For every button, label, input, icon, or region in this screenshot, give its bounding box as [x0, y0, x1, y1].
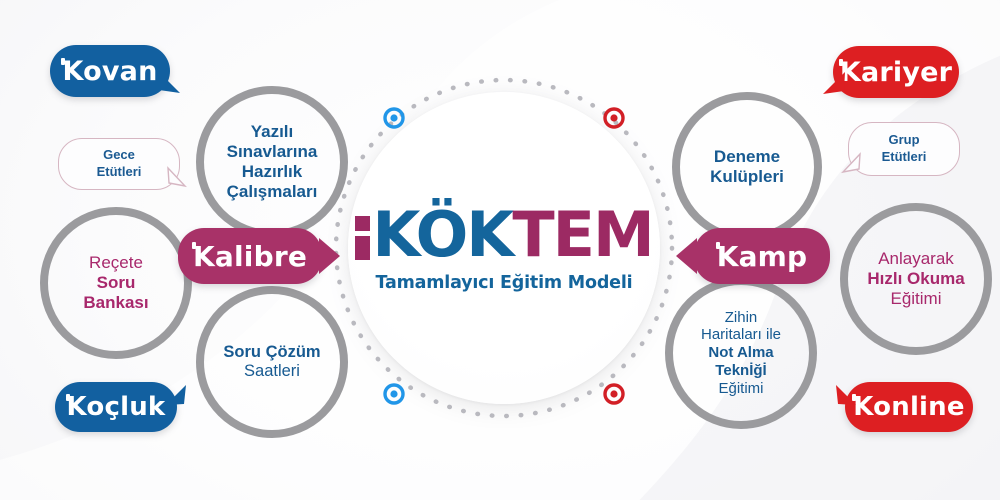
circle-anlayarak-text: Anlayarak Hızlı Okuma Eğitimi [857, 249, 974, 309]
logo-tem-text: TEM [512, 204, 652, 266]
target-bottom-right-icon [602, 382, 626, 406]
line-1: Anlayarak [867, 249, 964, 269]
target-top-left-icon [382, 106, 406, 130]
line-2: Sınavlarına [227, 142, 318, 162]
target-bottom-left-icon [382, 382, 406, 406]
bubble-gece-text: Gece Etütleri [97, 147, 142, 181]
circle-anlayarak-hizli-okuma[interactable]: Anlayarak Hızlı Okuma Eğitimi [840, 203, 992, 355]
badge-kariyer-label: Kariyer [840, 57, 952, 88]
circle-zihin-text: Zihin Haritaları ile Not Alma Teknİğİ Eğ… [691, 309, 791, 397]
logo-kok-text: KÖK [372, 204, 512, 266]
badge-kovan[interactable]: Kovan [50, 45, 170, 97]
circle-soru-cozum-text: Soru Çözüm Saatleri [213, 343, 330, 382]
line-1: Zihin [701, 309, 781, 327]
badge-kamp-label: Kamp [717, 240, 808, 273]
line-2: Saatleri [223, 362, 320, 381]
line-1: Yazılı [227, 122, 318, 142]
line-1: Gece [97, 147, 142, 164]
koktem-logo: KÖK TEM Tamamlayıcı Eğitim Modeli [348, 92, 660, 404]
line-2: Etütleri [97, 164, 142, 181]
line-1: Soru Çözüm [223, 343, 320, 362]
line-4: Çalışmaları [227, 182, 318, 202]
line-2: Haritaları ile [701, 326, 781, 344]
line-2: Etütleri [882, 149, 927, 166]
logo-wordmark: KÖK TEM [355, 204, 652, 266]
badge-kovan-tail [156, 69, 182, 95]
line-4: Teknİğİ [701, 362, 781, 380]
badge-konline-tail [834, 383, 858, 407]
line-2: Soru [83, 273, 148, 293]
bubble-gece-tail [166, 166, 188, 188]
logo-accent-bar [355, 216, 370, 260]
badge-kalibre-tail [319, 236, 341, 276]
target-top-right-icon [602, 106, 626, 130]
circle-yazili-text: Yazılı Sınavlarına Hazırlık Çalışmaları [217, 122, 328, 202]
line-1: Reçete [83, 253, 148, 273]
infographic-canvas: KÖK TEM Tamamlayıcı Eğitim Modeli Yazılı… [0, 0, 1000, 500]
line-5: Eğitimi [701, 380, 781, 398]
logo-tagline: Tamamlayıcı Eğitim Modeli [376, 273, 633, 293]
line-3: Eğitimi [867, 289, 964, 309]
badge-konline[interactable]: Konline [845, 382, 973, 432]
badge-kariyer-tail [821, 70, 847, 96]
circle-deneme-text: Deneme Kulüpleri [700, 147, 794, 187]
badge-kocluk[interactable]: Koçluk [55, 382, 177, 432]
line-3: Bankası [83, 293, 148, 313]
badge-konline-label: Konline [853, 392, 964, 422]
line-1: Grup [882, 132, 927, 149]
circle-zihin-haritalari[interactable]: Zihin Haritaları ile Not Alma Teknİğİ Eğ… [665, 277, 817, 429]
badge-kariyer[interactable]: Kariyer [833, 46, 959, 98]
line-2: Hızlı Okuma [867, 269, 964, 289]
badge-kalibre-label: Kalibre [193, 240, 307, 273]
line-2: Kulüpleri [710, 167, 784, 187]
circle-soru-cozum-saatleri[interactable]: Soru Çözüm Saatleri [196, 286, 348, 438]
circle-recete-text: Reçete Soru Bankası [73, 253, 158, 313]
line-3: Hazırlık [227, 162, 318, 182]
bubble-grup-tail [840, 152, 862, 174]
badge-kalibre[interactable]: Kalibre [178, 228, 322, 284]
bubble-grup-etutleri[interactable]: Grup Etütleri [848, 122, 960, 176]
badge-kamp[interactable]: Kamp [694, 228, 830, 284]
circle-recete-soru-bankasi[interactable]: Reçete Soru Bankası [40, 207, 192, 359]
circle-yazili-sinavlarina[interactable]: Yazılı Sınavlarına Hazırlık Çalışmaları [196, 86, 348, 238]
badge-kocluk-tail [164, 383, 188, 407]
line-3: Not Alma [701, 344, 781, 362]
circle-deneme-kulupleri[interactable]: Deneme Kulüpleri [672, 92, 822, 242]
bubble-gece-etutleri[interactable]: Gece Etütleri [58, 138, 180, 190]
bubble-grup-text: Grup Etütleri [882, 132, 927, 166]
badge-kamp-tail [675, 236, 697, 276]
badge-kocluk-label: Koçluk [67, 392, 166, 422]
line-1: Deneme [710, 147, 784, 167]
badge-kovan-label: Kovan [62, 56, 157, 87]
